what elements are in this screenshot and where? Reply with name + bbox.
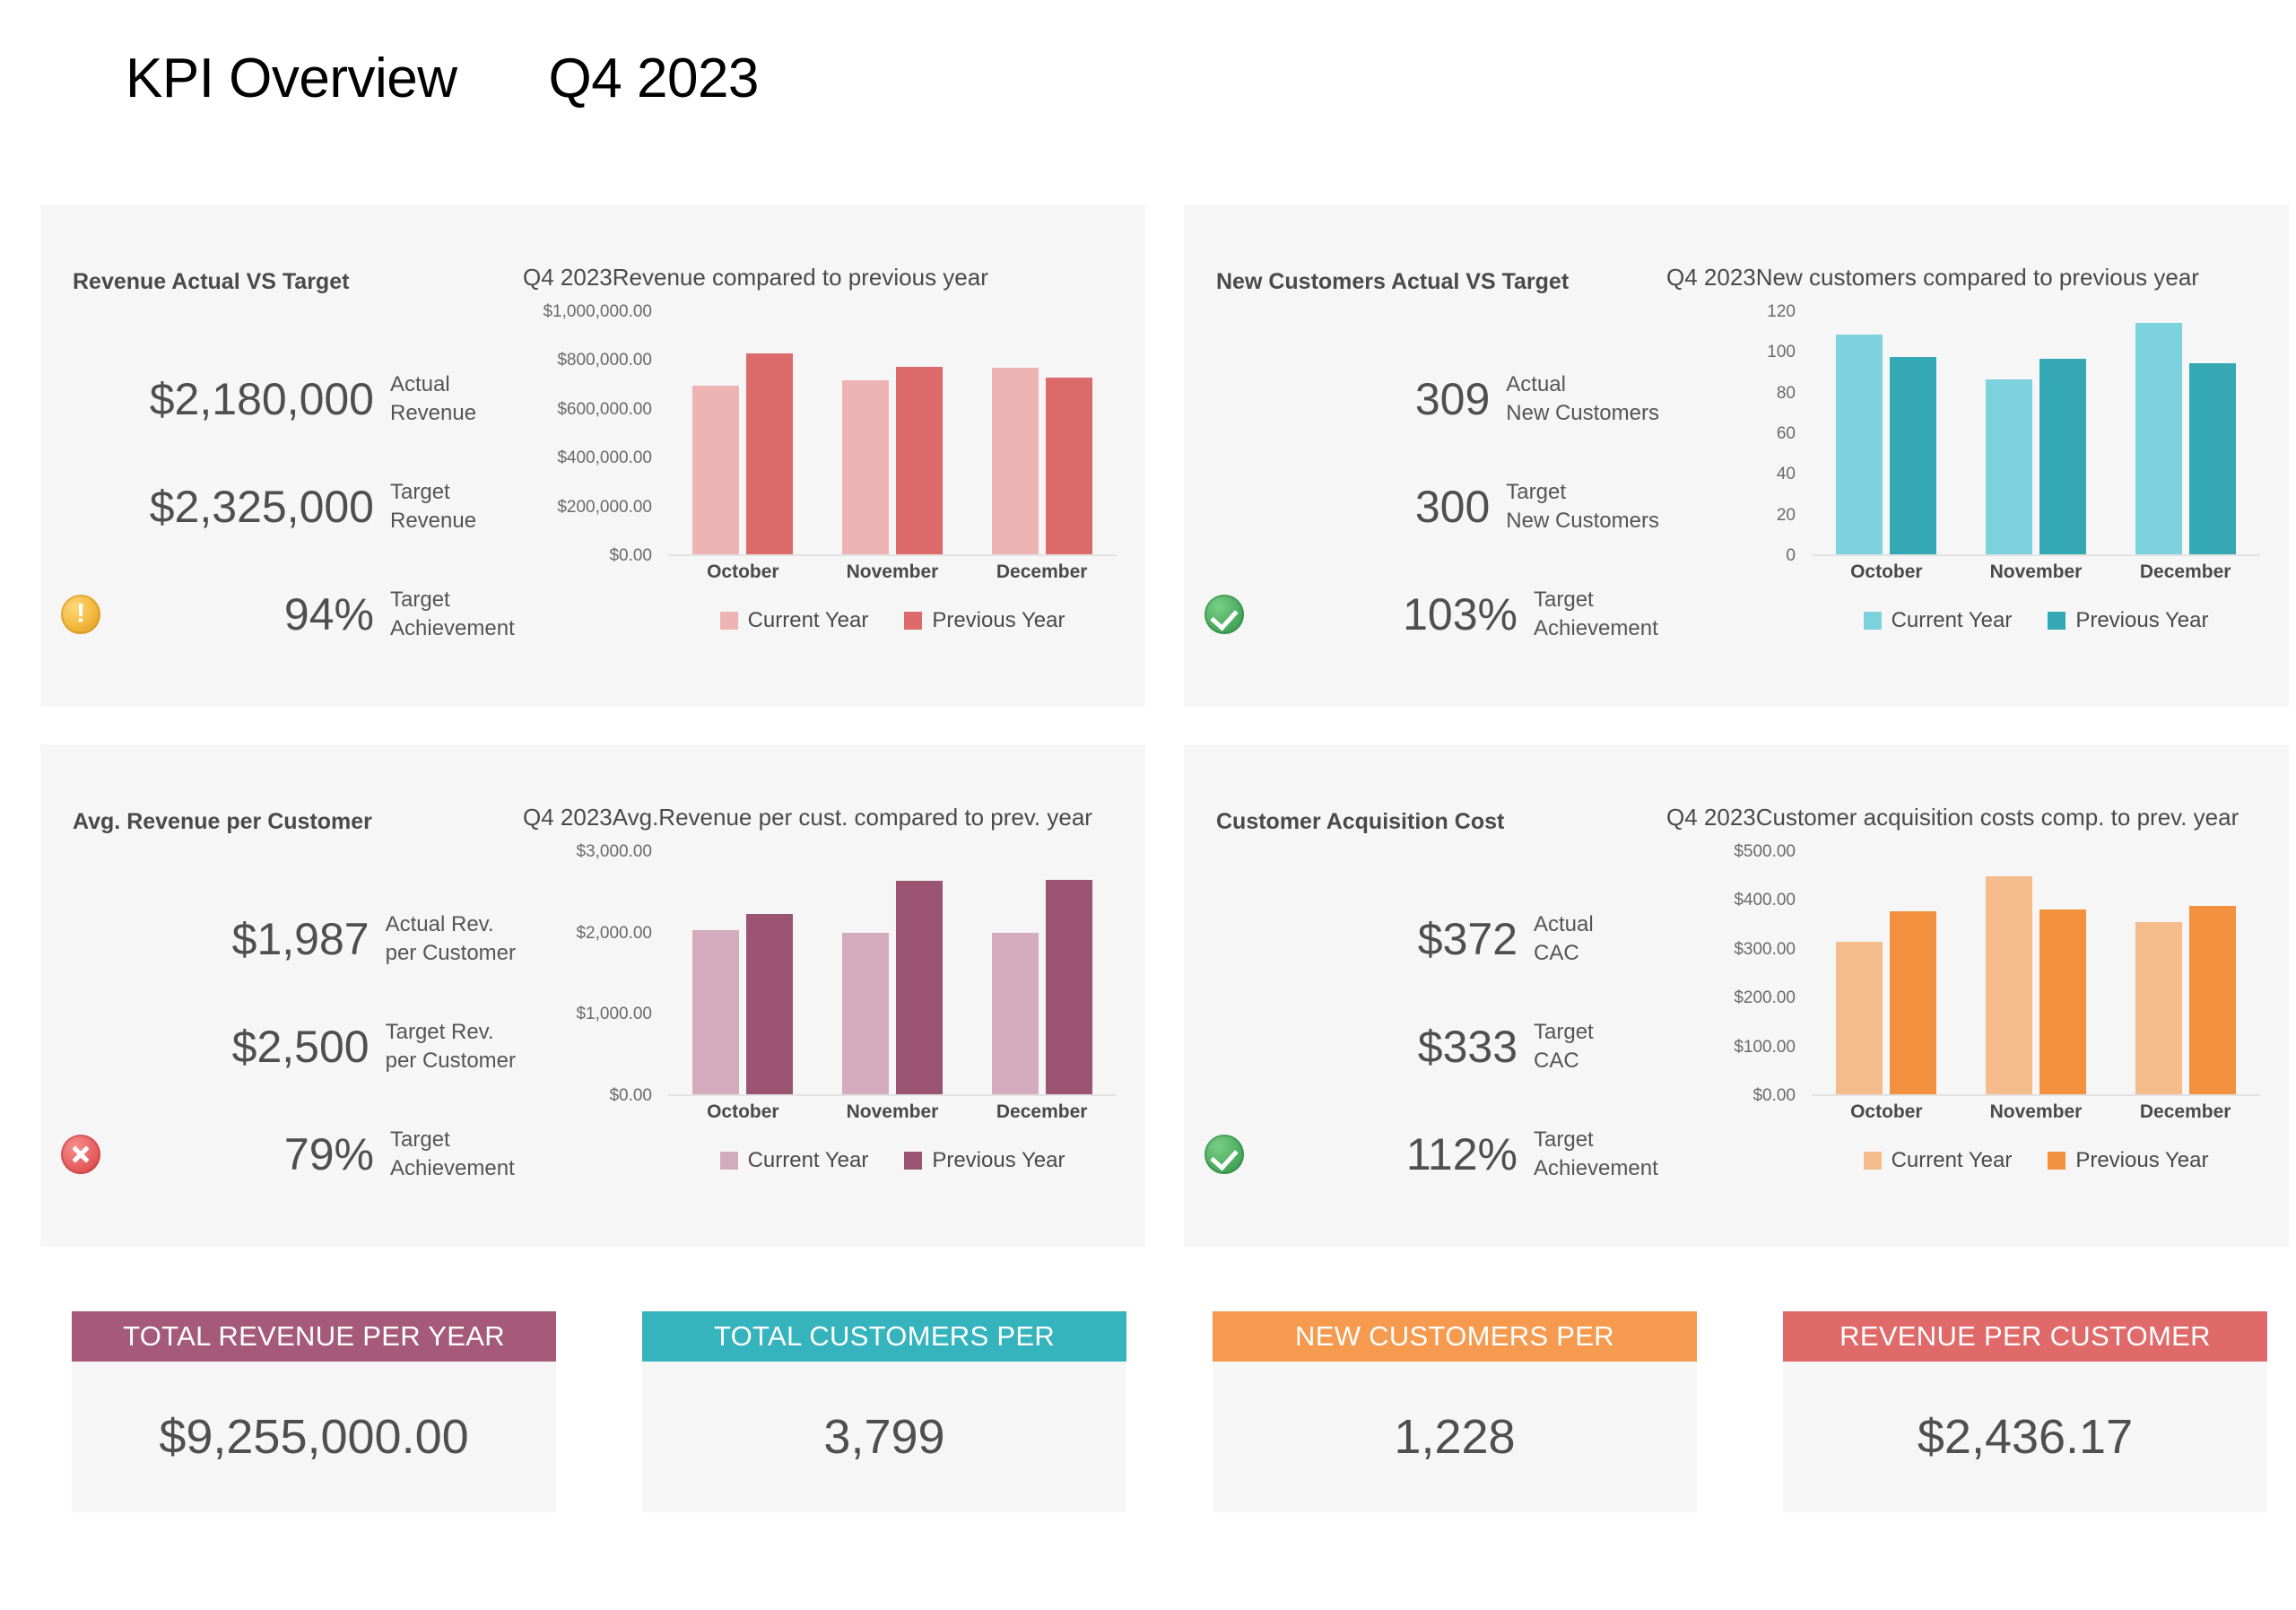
x-axis-tick-label: October bbox=[1836, 1101, 1936, 1123]
summary-tile-label: REVENUE PER CUSTOMER bbox=[1783, 1311, 2267, 1362]
summary-tile: NEW CUSTOMERS PER1,228 bbox=[1213, 1311, 1697, 1512]
stat-value: $2,500 bbox=[120, 1021, 386, 1073]
summary-tile-value: 1,228 bbox=[1213, 1362, 1697, 1512]
bar-group bbox=[692, 312, 793, 554]
bar bbox=[992, 368, 1039, 554]
legend-swatch bbox=[904, 1152, 922, 1170]
panel-revenue-stats: Revenue Actual VS Target$2,180,000Actual… bbox=[40, 205, 516, 707]
stat-label: Actual Rev.per Customer bbox=[386, 910, 516, 967]
panel-customer-acquisition-cost-chart: Q4 2023Customer acquisition costs comp. … bbox=[1659, 744, 2289, 1247]
x-axis-tick-label: November bbox=[842, 561, 943, 583]
y-axis-tick-label: $3,000.00 bbox=[576, 842, 652, 862]
stat-value: 300 bbox=[1258, 481, 1507, 533]
y-axis-tick-label: 60 bbox=[1777, 424, 1796, 444]
stat-value: 94% bbox=[121, 588, 390, 640]
x-axis: OctoberNovemberDecember bbox=[1812, 561, 2260, 583]
summary-tile-value: $9,255,000.00 bbox=[72, 1362, 556, 1512]
legend-swatch bbox=[1864, 1152, 1882, 1170]
bar bbox=[1046, 378, 1092, 554]
bar-group bbox=[992, 312, 1092, 554]
chart-legend: Current YearPrevious Year bbox=[1812, 1148, 2260, 1173]
x-axis-tick-label: November bbox=[842, 1101, 943, 1123]
bar-group bbox=[1836, 852, 1936, 1094]
error-icon bbox=[61, 1135, 100, 1174]
chart-plot-area: $0.00$100.00$200.00$300.00$400.00$500.00… bbox=[1668, 852, 2260, 1139]
warning-icon bbox=[61, 595, 100, 634]
panel-revenue: Revenue Actual VS Target$2,180,000Actual… bbox=[40, 205, 1145, 707]
stat-row: $2,180,000ActualRevenue bbox=[40, 370, 516, 427]
legend-item: Current Year bbox=[720, 1148, 869, 1173]
stat-label: ActualCAC bbox=[1534, 910, 1594, 967]
bars-container bbox=[1812, 852, 2260, 1096]
stat-label: TargetRevenue bbox=[390, 478, 476, 535]
y-axis-tick-label: $0.00 bbox=[609, 546, 652, 566]
y-axis-tick-label: $500.00 bbox=[1734, 842, 1796, 862]
stat-value: $1,987 bbox=[120, 913, 386, 965]
summary-tile-label: TOTAL CUSTOMERS PER bbox=[642, 1311, 1126, 1362]
chart-title: Q4 2023Revenue compared to previous year bbox=[523, 264, 988, 292]
summary-tile: TOTAL CUSTOMERS PER3,799 bbox=[642, 1311, 1126, 1512]
legend-item: Previous Year bbox=[2048, 1148, 2208, 1173]
bar-group bbox=[992, 852, 1092, 1094]
bar bbox=[1890, 357, 1936, 554]
panel-new-customers-stats: New Customers Actual VS Target309ActualN… bbox=[1184, 205, 1659, 707]
page-title-main: KPI Overview bbox=[126, 47, 457, 110]
bar bbox=[992, 933, 1039, 1094]
y-axis-tick-label: 40 bbox=[1777, 465, 1796, 484]
stat-value: 112% bbox=[1265, 1128, 1534, 1180]
bar bbox=[2135, 922, 2182, 1094]
x-axis: OctoberNovemberDecember bbox=[1812, 1101, 2260, 1123]
bar bbox=[746, 353, 793, 554]
stat-value: $372 bbox=[1265, 913, 1534, 965]
page-title: KPI Overview Q4 2023 bbox=[126, 47, 759, 110]
panel-customer-acquisition-cost: Customer Acquisition Cost$372ActualCAC$3… bbox=[1184, 744, 2289, 1247]
status-icon-slot bbox=[40, 595, 121, 634]
stat-value: $333 bbox=[1265, 1021, 1534, 1073]
legend-item: Current Year bbox=[1864, 608, 2013, 633]
y-axis-tick-label: $400,000.00 bbox=[557, 448, 652, 468]
stat-value: $2,180,000 bbox=[121, 373, 390, 425]
panel-title: Revenue Actual VS Target bbox=[73, 269, 349, 295]
x-axis: OctoberNovemberDecember bbox=[668, 1101, 1117, 1123]
legend-item: Previous Year bbox=[904, 1148, 1065, 1173]
y-axis-tick-label: 0 bbox=[1786, 546, 1796, 566]
stat-value: 103% bbox=[1265, 588, 1534, 640]
legend-item: Previous Year bbox=[2048, 608, 2208, 633]
chart-title: Q4 2023Customer acquisition costs comp. … bbox=[1666, 804, 2239, 831]
y-axis-tick-label: 20 bbox=[1777, 506, 1796, 526]
stat-row: 79%TargetAchievement bbox=[40, 1126, 516, 1182]
bar-group bbox=[842, 312, 943, 554]
y-axis-tick-label: $300.00 bbox=[1734, 940, 1796, 960]
legend-label: Current Year bbox=[1892, 1148, 2013, 1173]
y-axis-tick-label: $0.00 bbox=[1752, 1086, 1796, 1106]
legend-label: Previous Year bbox=[932, 1148, 1065, 1173]
summary-tile-value: 3,799 bbox=[642, 1362, 1126, 1512]
status-icon-slot bbox=[1184, 595, 1265, 634]
bar-chart: $0.00$100.00$200.00$300.00$400.00$500.00… bbox=[1668, 852, 2260, 1139]
y-axis: $0.00$200,000.00$400,000.00$600,000.00$8… bbox=[525, 312, 661, 556]
stat-row: 300TargetNew Customers bbox=[1184, 478, 1659, 535]
bar-chart: $0.00$200,000.00$400,000.00$600,000.00$8… bbox=[525, 312, 1117, 599]
x-axis-tick-label: December bbox=[2135, 561, 2236, 583]
x-axis-tick-label: October bbox=[692, 1101, 793, 1123]
stat-label: TargetAchievement bbox=[390, 586, 515, 642]
status-icon-slot bbox=[1184, 1135, 1265, 1174]
bar bbox=[1836, 942, 1883, 1094]
y-axis-tick-label: $100.00 bbox=[1734, 1038, 1796, 1057]
stat-value: 79% bbox=[121, 1128, 390, 1180]
bar-group bbox=[842, 852, 943, 1094]
panel-customer-acquisition-cost-stats: Customer Acquisition Cost$372ActualCAC$3… bbox=[1184, 744, 1659, 1247]
chart-plot-area: $0.00$1,000.00$2,000.00$3,000.00OctoberN… bbox=[525, 852, 1117, 1139]
summary-tile-label: TOTAL REVENUE PER YEAR bbox=[72, 1311, 556, 1362]
y-axis-tick-label: 80 bbox=[1777, 384, 1796, 404]
x-axis-tick-label: November bbox=[1986, 561, 2086, 583]
panel-avg-revenue-per-customer: Avg. Revenue per Customer$1,987Actual Re… bbox=[40, 744, 1145, 1247]
x-axis-tick-label: October bbox=[692, 561, 793, 583]
x-axis-tick-label: December bbox=[992, 1101, 1092, 1123]
stat-row: $333TargetCAC bbox=[1184, 1018, 1659, 1075]
bar bbox=[2189, 906, 2236, 1094]
stat-row: $2,325,000TargetRevenue bbox=[40, 478, 516, 535]
legend-swatch bbox=[2048, 612, 2066, 630]
chart-plot-area: 020406080100120OctoberNovemberDecemberCu… bbox=[1668, 312, 2260, 599]
bar bbox=[2039, 909, 2086, 1094]
panel-new-customers-chart: Q4 2023New customers compared to previou… bbox=[1659, 205, 2289, 707]
summary-tile-label: NEW CUSTOMERS PER bbox=[1213, 1311, 1697, 1362]
chart-title: Q4 2023New customers compared to previou… bbox=[1666, 264, 2199, 292]
y-axis-tick-label: $200.00 bbox=[1734, 988, 1796, 1008]
bar-group bbox=[2135, 852, 2236, 1094]
bar bbox=[692, 930, 739, 1094]
panel-new-customers: New Customers Actual VS Target309ActualN… bbox=[1184, 205, 2289, 707]
legend-swatch bbox=[720, 1152, 738, 1170]
y-axis-tick-label: $600,000.00 bbox=[557, 400, 652, 420]
y-axis-tick-label: $0.00 bbox=[609, 1086, 652, 1106]
chart-title: Q4 2023Avg.Revenue per cust. compared to… bbox=[523, 804, 1092, 831]
legend-item: Previous Year bbox=[904, 608, 1065, 633]
bar bbox=[1986, 379, 2032, 554]
bar bbox=[2039, 359, 2086, 554]
stat-row: $372ActualCAC bbox=[1184, 910, 1659, 967]
kpi-dashboard: KPI Overview Q4 2023 Revenue Actual VS T… bbox=[0, 0, 2296, 1610]
stat-label: Target Rev.per Customer bbox=[386, 1018, 516, 1075]
bar bbox=[2189, 363, 2236, 554]
panel-title: Avg. Revenue per Customer bbox=[73, 809, 372, 835]
panel-avg-revenue-per-customer-chart: Q4 2023Avg.Revenue per cust. compared to… bbox=[516, 744, 1145, 1247]
legend-item: Current Year bbox=[720, 608, 869, 633]
panel-revenue-chart: Q4 2023Revenue compared to previous year… bbox=[516, 205, 1145, 707]
chart-legend: Current YearPrevious Year bbox=[1812, 608, 2260, 633]
panel-title: Customer Acquisition Cost bbox=[1216, 809, 1504, 835]
bar-group bbox=[1836, 312, 1936, 554]
bar bbox=[692, 386, 739, 554]
y-axis-tick-label: $1,000,000.00 bbox=[543, 302, 652, 322]
bars-container bbox=[668, 852, 1117, 1096]
y-axis: 020406080100120 bbox=[1668, 312, 1805, 556]
stat-label: ActualNew Customers bbox=[1506, 370, 1659, 427]
summary-tile: REVENUE PER CUSTOMER$2,436.17 bbox=[1783, 1311, 2267, 1512]
legend-item: Current Year bbox=[1864, 1148, 2013, 1173]
bar-group bbox=[1986, 312, 2086, 554]
legend-swatch bbox=[1864, 612, 1882, 630]
y-axis: $0.00$100.00$200.00$300.00$400.00$500.00 bbox=[1668, 852, 1805, 1096]
legend-label: Previous Year bbox=[2075, 1148, 2208, 1173]
x-axis-tick-label: December bbox=[992, 561, 1092, 583]
y-axis-tick-label: 100 bbox=[1767, 343, 1796, 362]
bar bbox=[842, 933, 889, 1094]
y-axis-tick-label: $400.00 bbox=[1734, 891, 1796, 910]
legend-swatch bbox=[904, 612, 922, 630]
legend-label: Current Year bbox=[748, 608, 869, 633]
bar bbox=[1836, 335, 1883, 554]
bar bbox=[746, 914, 793, 1094]
y-axis-tick-label: $200,000.00 bbox=[557, 498, 652, 518]
stat-row: 103%TargetAchievement bbox=[1184, 586, 1659, 642]
summary-tile: TOTAL REVENUE PER YEAR$9,255,000.00 bbox=[72, 1311, 556, 1512]
stat-label: ActualRevenue bbox=[390, 370, 476, 427]
stat-row: $1,987Actual Rev.per Customer bbox=[40, 910, 516, 967]
x-axis-tick-label: December bbox=[2135, 1101, 2236, 1123]
x-axis-tick-label: October bbox=[1836, 561, 1936, 583]
stat-label: TargetAchievement bbox=[1534, 586, 1658, 642]
stat-row: 309ActualNew Customers bbox=[1184, 370, 1659, 427]
legend-label: Previous Year bbox=[932, 608, 1065, 633]
bar bbox=[2135, 323, 2182, 554]
stat-row: 112%TargetAchievement bbox=[1184, 1126, 1659, 1182]
y-axis-tick-label: $2,000.00 bbox=[576, 924, 652, 944]
stat-label: TargetAchievement bbox=[390, 1126, 515, 1182]
stat-label: TargetCAC bbox=[1534, 1018, 1594, 1075]
bar-group bbox=[692, 852, 793, 1094]
stat-row: 94%TargetAchievement bbox=[40, 586, 516, 642]
panel-title: New Customers Actual VS Target bbox=[1216, 269, 1569, 295]
bar-chart: 020406080100120OctoberNovemberDecemberCu… bbox=[1668, 312, 2260, 599]
legend-label: Current Year bbox=[1892, 608, 2013, 633]
stat-label: TargetAchievement bbox=[1534, 1126, 1658, 1182]
bar-group bbox=[2135, 312, 2236, 554]
legend-label: Current Year bbox=[748, 1148, 869, 1173]
legend-swatch bbox=[720, 612, 738, 630]
y-axis-tick-label: $800,000.00 bbox=[557, 351, 652, 370]
stat-value: 309 bbox=[1258, 373, 1507, 425]
bars-container bbox=[1812, 312, 2260, 556]
bar bbox=[1046, 880, 1092, 1094]
chart-legend: Current YearPrevious Year bbox=[668, 608, 1117, 633]
y-axis-tick-label: $1,000.00 bbox=[576, 1005, 652, 1024]
bars-container bbox=[668, 312, 1117, 556]
success-icon bbox=[1205, 1135, 1244, 1174]
page-title-period: Q4 2023 bbox=[549, 47, 759, 110]
stat-value: $2,325,000 bbox=[121, 481, 390, 533]
stat-label: TargetNew Customers bbox=[1506, 478, 1659, 535]
success-icon bbox=[1205, 595, 1244, 634]
legend-label: Previous Year bbox=[2075, 608, 2208, 633]
bar-chart: $0.00$1,000.00$2,000.00$3,000.00OctoberN… bbox=[525, 852, 1117, 1139]
stat-row: $2,500Target Rev.per Customer bbox=[40, 1018, 516, 1075]
summary-tile-value: $2,436.17 bbox=[1783, 1362, 2267, 1512]
y-axis-tick-label: 120 bbox=[1767, 302, 1796, 322]
bar bbox=[896, 881, 943, 1094]
status-icon-slot bbox=[40, 1135, 121, 1174]
chart-plot-area: $0.00$200,000.00$400,000.00$600,000.00$8… bbox=[525, 312, 1117, 599]
y-axis: $0.00$1,000.00$2,000.00$3,000.00 bbox=[525, 852, 661, 1096]
bar bbox=[896, 367, 943, 554]
bar bbox=[1890, 911, 1936, 1094]
x-axis: OctoberNovemberDecember bbox=[668, 561, 1117, 583]
panel-avg-revenue-per-customer-stats: Avg. Revenue per Customer$1,987Actual Re… bbox=[40, 744, 516, 1247]
x-axis-tick-label: November bbox=[1986, 1101, 2086, 1123]
bar bbox=[1986, 876, 2032, 1094]
legend-swatch bbox=[2048, 1152, 2066, 1170]
chart-legend: Current YearPrevious Year bbox=[668, 1148, 1117, 1173]
bar bbox=[842, 380, 889, 554]
bar-group bbox=[1986, 852, 2086, 1094]
